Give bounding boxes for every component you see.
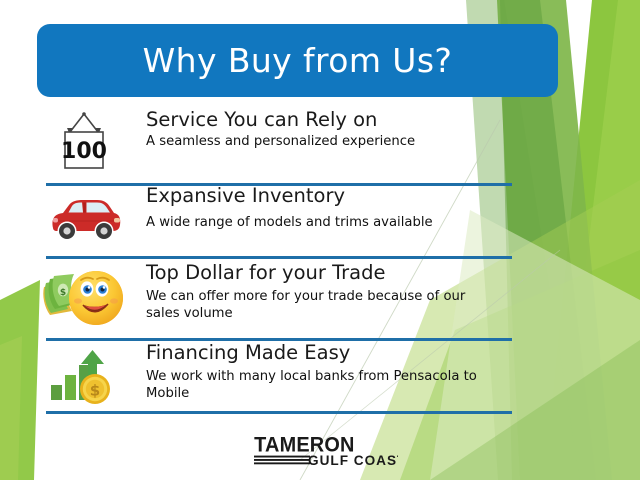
feature-title: Top Dollar for your Trade <box>146 261 514 284</box>
list-item: Expansive Inventory A wide range of mode… <box>0 186 640 256</box>
feature-title: Service You can Rely on <box>146 108 514 131</box>
feature-title: Expansive Inventory <box>146 184 514 207</box>
feature-text-cell: Financing Made Easy We work with many lo… <box>146 341 514 403</box>
coin-dollar-sign: $ <box>90 382 100 400</box>
feature-icon-cell: $ <box>36 263 132 333</box>
list-item: $ Financing Made Easy We work with many … <box>0 341 640 411</box>
feature-subtitle: We can offer more for your trade because… <box>146 289 498 323</box>
logo-stripes <box>254 456 310 465</box>
feature-divider <box>46 411 512 414</box>
hanging-sign-100-icon: 100 <box>52 110 116 176</box>
slide-title-banner: Why Buy from Us? <box>37 24 558 97</box>
feature-title: Financing Made Easy <box>146 341 514 364</box>
list-item: 100 Service You can Rely on A seamless a… <box>0 104 640 183</box>
feature-icon-cell <box>36 188 132 250</box>
sign-number: 100 <box>61 139 107 164</box>
svg-text:$: $ <box>60 288 66 298</box>
feature-icon-cell: 100 <box>36 108 132 178</box>
feature-icon-cell: $ <box>36 345 132 409</box>
slide-canvas: Why Buy from Us? 100 Service You can Rel… <box>0 0 640 480</box>
growth-chart-coin-icon: $ <box>45 347 123 407</box>
logo-secondary-text: GULF COAST <box>308 453 398 468</box>
feature-text-cell: Top Dollar for your Trade We can offer m… <box>146 261 514 323</box>
list-item: $ <box>0 259 640 338</box>
money-smiley-icon: $ <box>38 265 130 331</box>
feature-subtitle: A seamless and personalized experience <box>146 134 514 151</box>
feature-text-cell: Service You can Rely on A seamless and p… <box>146 108 514 151</box>
page-title: Why Buy from Us? <box>143 41 453 80</box>
feature-subtitle: We work with many local banks from Pensa… <box>146 369 494 403</box>
red-car-icon <box>43 192 125 246</box>
tameron-gulf-coast-logo: TAMERON GULF COAST <box>246 432 398 470</box>
feature-subtitle: A wide range of models and trims availab… <box>146 215 514 232</box>
feature-text-cell: Expansive Inventory A wide range of mode… <box>146 184 514 232</box>
